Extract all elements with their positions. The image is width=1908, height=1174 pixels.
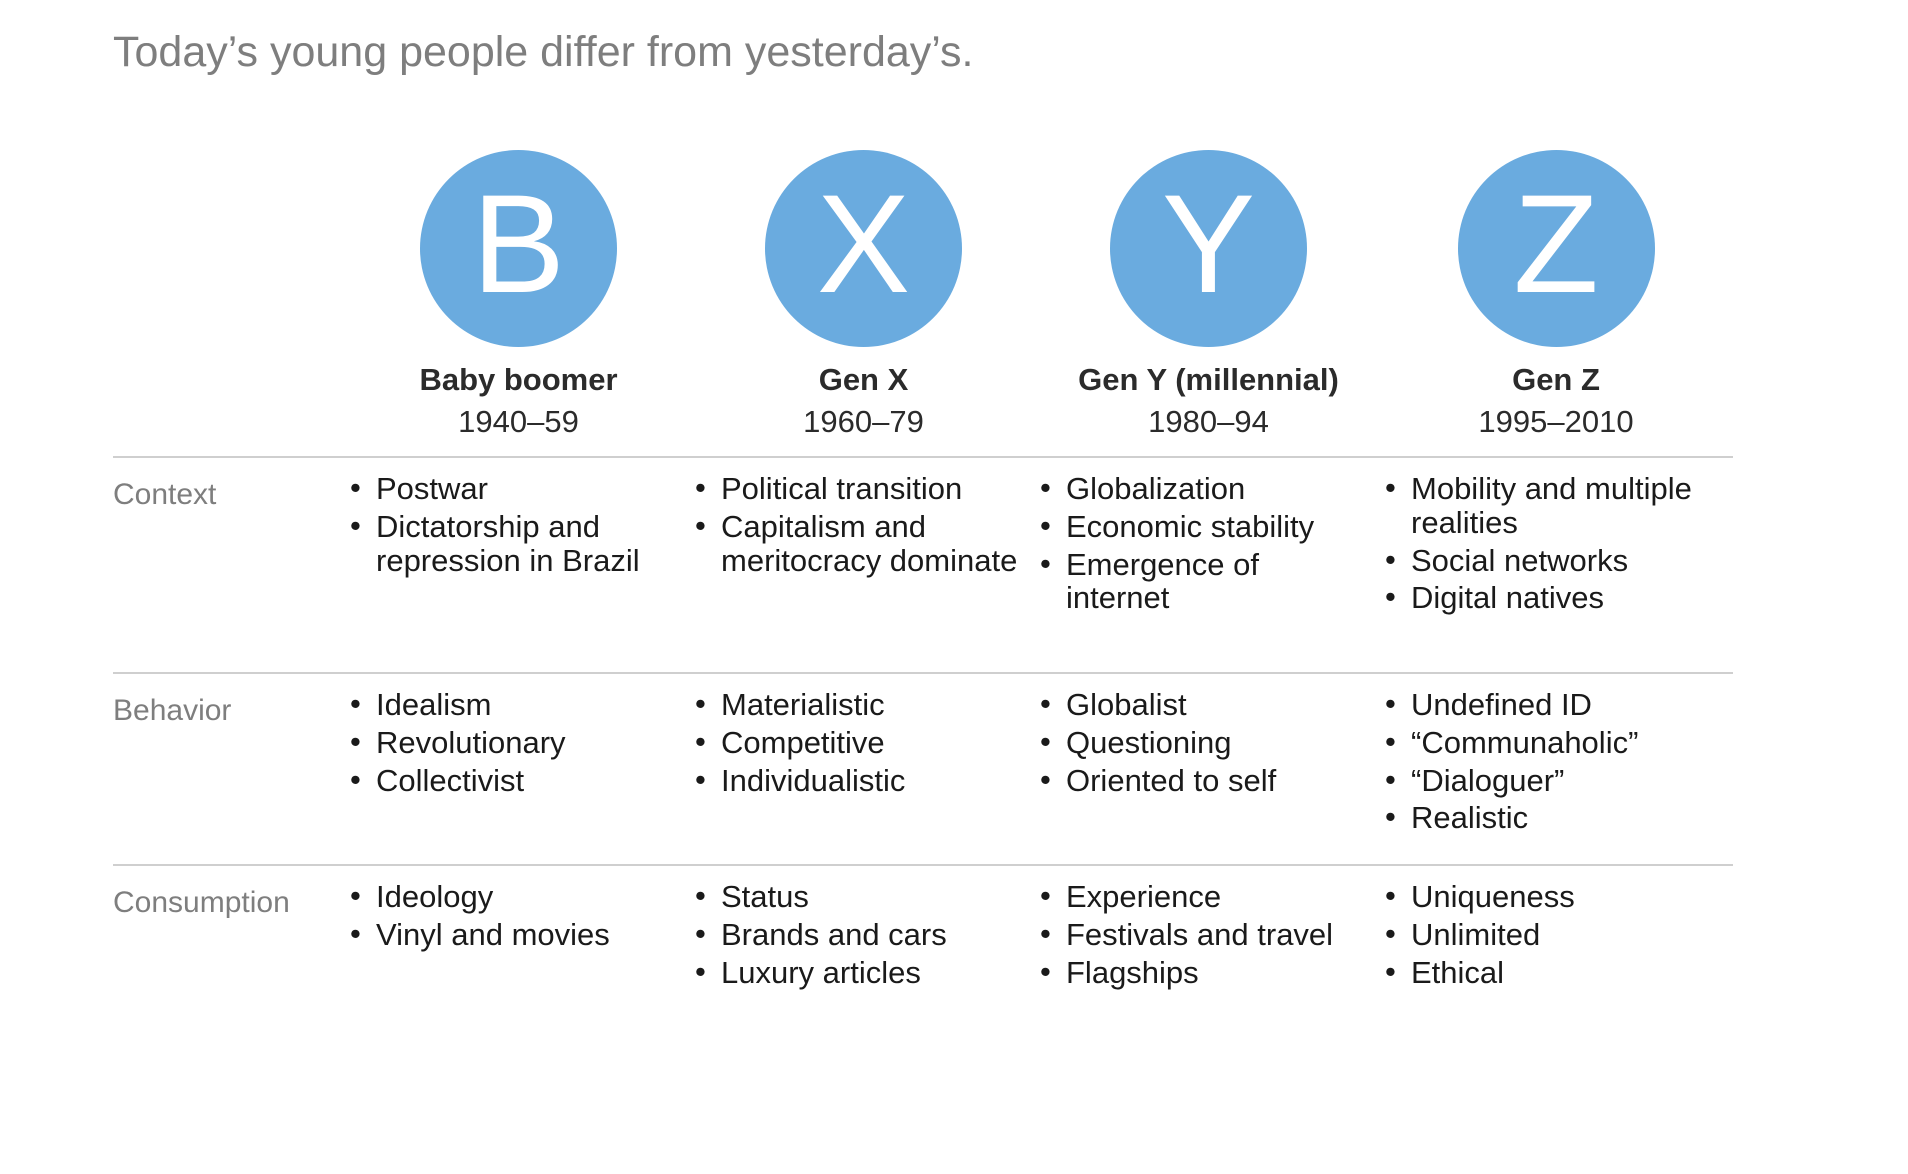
generation-name: Gen Z: [1383, 361, 1729, 400]
generation-badge-y: Y: [1110, 150, 1307, 347]
cell-consumption-gen-y: Experience Festivals and travel Flagship…: [1038, 880, 1383, 1030]
generation-years: 1960–79: [693, 402, 1034, 442]
row-label-consumption: Consumption: [113, 880, 348, 1030]
list-item: Emergence of internet: [1038, 548, 1365, 616]
cell-behavior-baby-boomer: Idealism Revolutionary Collectivist: [348, 688, 693, 864]
bullet-list: Materialistic Competitive Individualisti…: [693, 688, 1020, 797]
list-item: Mobility and multiple realities: [1383, 472, 1715, 540]
list-item: Flagships: [1038, 956, 1365, 990]
generation-header-gen-x: X Gen X 1960–79: [693, 150, 1038, 442]
bullet-list: Postwar Dictatorship and repression in B…: [348, 472, 675, 577]
list-item: Capitalism and meritocracy dominate: [693, 510, 1020, 578]
bullet-list: Ideology Vinyl and movies: [348, 880, 675, 952]
cell-consumption-gen-z: Uniqueness Unlimited Ethical: [1383, 880, 1733, 1030]
cell-context-gen-y: Globalization Economic stability Emergen…: [1038, 472, 1383, 672]
cell-context-gen-z: Mobility and multiple realities Social n…: [1383, 472, 1733, 672]
page-title: Today’s young people differ from yesterd…: [113, 28, 974, 77]
list-item: “Dialoguer”: [1383, 764, 1715, 798]
generation-years: 1940–59: [348, 402, 689, 442]
bullet-list: Globalization Economic stability Emergen…: [1038, 472, 1365, 615]
list-item: Postwar: [348, 472, 675, 506]
list-item: Vinyl and movies: [348, 918, 675, 952]
list-item: Brands and cars: [693, 918, 1020, 952]
matrix-row-consumption: Consumption Ideology Vinyl and movies St…: [113, 864, 1733, 1030]
list-item: Social networks: [1383, 544, 1715, 578]
row-label-behavior: Behavior: [113, 688, 348, 864]
infographic-page: Today’s young people differ from yesterd…: [0, 0, 1908, 1174]
list-item: Undefined ID: [1383, 688, 1715, 722]
list-item: Ethical: [1383, 956, 1715, 990]
list-item: Experience: [1038, 880, 1365, 914]
generation-letter: B: [472, 174, 565, 314]
list-item: Festivals and travel: [1038, 918, 1365, 952]
list-item: “Communaholic”: [1383, 726, 1715, 760]
list-item: Unlimited: [1383, 918, 1715, 952]
list-item: Revolutionary: [348, 726, 675, 760]
generation-name: Gen X: [693, 361, 1034, 400]
list-item: Status: [693, 880, 1020, 914]
bullet-list: Globalist Questioning Oriented to self: [1038, 688, 1365, 797]
list-item: Questioning: [1038, 726, 1365, 760]
generation-letter: Z: [1513, 174, 1599, 314]
list-item: Ideology: [348, 880, 675, 914]
generation-header-gen-z: Z Gen Z 1995–2010: [1383, 150, 1733, 442]
list-item: Competitive: [693, 726, 1020, 760]
cell-context-baby-boomer: Postwar Dictatorship and repression in B…: [348, 472, 693, 672]
list-item: Globalization: [1038, 472, 1365, 506]
generation-header-gen-y: Y Gen Y (millennial) 1980–94: [1038, 150, 1383, 442]
list-item: Luxury articles: [693, 956, 1020, 990]
cell-behavior-gen-y: Globalist Questioning Oriented to self: [1038, 688, 1383, 864]
list-item: Digital natives: [1383, 581, 1715, 615]
list-item: Materialistic: [693, 688, 1020, 722]
list-item: Political transition: [693, 472, 1020, 506]
list-item: Collectivist: [348, 764, 675, 798]
bullet-list: Mobility and multiple realities Social n…: [1383, 472, 1715, 615]
generation-badge-b: B: [420, 150, 617, 347]
generation-badge-x: X: [765, 150, 962, 347]
cell-context-gen-x: Political transition Capitalism and meri…: [693, 472, 1038, 672]
list-item: Uniqueness: [1383, 880, 1715, 914]
generation-badge-z: Z: [1458, 150, 1655, 347]
list-item: Globalist: [1038, 688, 1365, 722]
generations-comparison-matrix: B Baby boomer 1940–59 X Gen X 1960–79 Y …: [113, 150, 1733, 1030]
list-item: Oriented to self: [1038, 764, 1365, 798]
bullet-list: Idealism Revolutionary Collectivist: [348, 688, 675, 797]
list-item: Realistic: [1383, 801, 1715, 835]
list-item: Economic stability: [1038, 510, 1365, 544]
row-label-context: Context: [113, 472, 348, 672]
generation-letter: X: [817, 174, 910, 314]
cell-behavior-gen-z: Undefined ID “Communaholic” “Dialoguer” …: [1383, 688, 1733, 864]
matrix-header-row: B Baby boomer 1940–59 X Gen X 1960–79 Y …: [113, 150, 1733, 442]
generation-years: 1995–2010: [1383, 402, 1729, 442]
matrix-row-context: Context Postwar Dictatorship and repress…: [113, 456, 1733, 672]
generation-years: 1980–94: [1038, 402, 1379, 442]
bullet-list: Undefined ID “Communaholic” “Dialoguer” …: [1383, 688, 1715, 835]
bullet-list: Status Brands and cars Luxury articles: [693, 880, 1020, 989]
matrix-row-behavior: Behavior Idealism Revolutionary Collecti…: [113, 672, 1733, 864]
header-spacer: [113, 150, 348, 442]
generation-name: Gen Y (millennial): [1038, 361, 1379, 400]
generation-header-baby-boomer: B Baby boomer 1940–59: [348, 150, 693, 442]
generation-letter: Y: [1162, 174, 1255, 314]
cell-behavior-gen-x: Materialistic Competitive Individualisti…: [693, 688, 1038, 864]
cell-consumption-baby-boomer: Ideology Vinyl and movies: [348, 880, 693, 1030]
list-item: Individualistic: [693, 764, 1020, 798]
list-item: Idealism: [348, 688, 675, 722]
cell-consumption-gen-x: Status Brands and cars Luxury articles: [693, 880, 1038, 1030]
bullet-list: Political transition Capitalism and meri…: [693, 472, 1020, 577]
bullet-list: Uniqueness Unlimited Ethical: [1383, 880, 1715, 989]
bullet-list: Experience Festivals and travel Flagship…: [1038, 880, 1365, 989]
list-item: Dictatorship and repression in Brazil: [348, 510, 675, 578]
generation-name: Baby boomer: [348, 361, 689, 400]
